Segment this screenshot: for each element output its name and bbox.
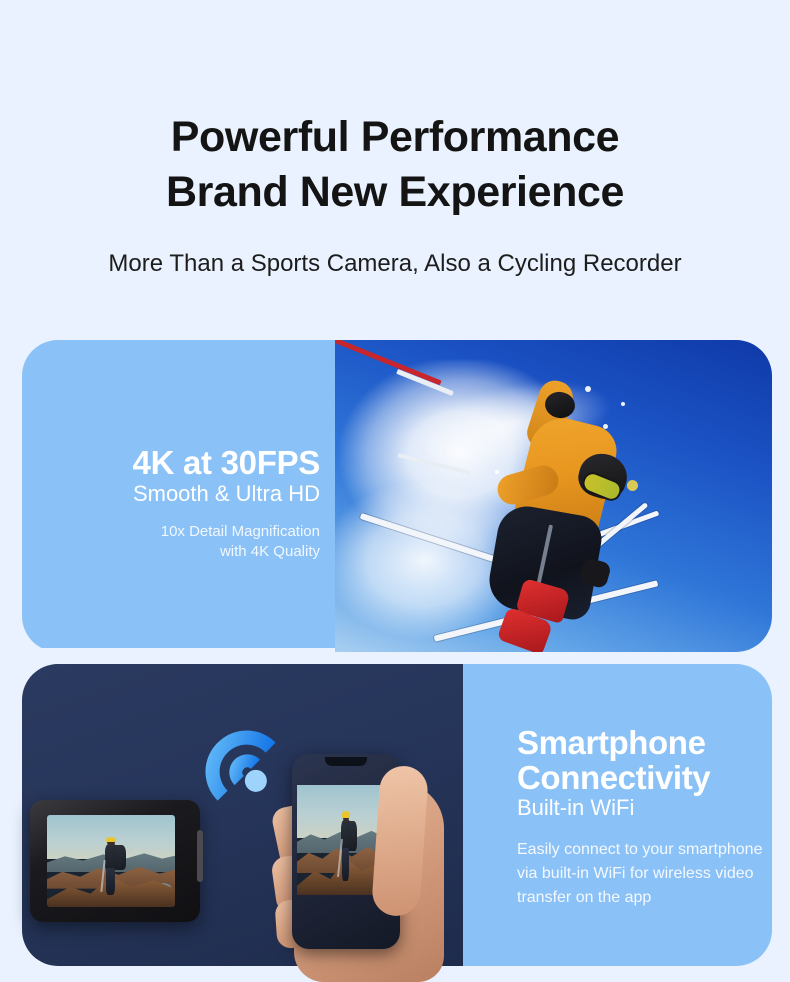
hero-title-line-2: Brand New Experience (0, 165, 790, 220)
page-title: Powerful Performance Brand New Experienc… (0, 110, 790, 220)
hiker-body (105, 844, 117, 870)
action-camera-device (30, 800, 200, 922)
video-quality-heading: 4K at 30FPS (32, 445, 320, 481)
skier-jumping-photo (335, 340, 772, 652)
connectivity-subheading: Built-in WiFi (517, 794, 772, 821)
hero-section: Powerful Performance Brand New Experienc… (0, 0, 790, 310)
connectivity-heading-line-1: Smartphone (517, 725, 772, 760)
connectivity-heading: Smartphone Connectivity (517, 725, 772, 795)
camera-side-button (197, 830, 203, 882)
video-quality-subheading: Smooth & Ultra HD (32, 480, 320, 508)
video-quality-description: 10x Detail Magnification with 4K Quality (32, 522, 320, 562)
phone-notch (325, 757, 367, 766)
video-quality-text-panel: 4K at 30FPS Smooth & Ultra HD 10x Detail… (22, 340, 335, 648)
hiker-legs (342, 848, 348, 881)
video-quality-description-line-1: 10x Detail Magnification (32, 522, 320, 542)
hiker-cap (106, 837, 117, 842)
hiker-scene (47, 815, 175, 907)
skier-figure (485, 382, 665, 632)
scene-hiker (336, 811, 358, 879)
hero-title-line-1: Powerful Performance (0, 110, 790, 165)
hiker-body (341, 820, 350, 851)
video-quality-copy: 4K at 30FPS Smooth & Ultra HD 10x Detail… (32, 445, 320, 562)
hero-subtitle: More Than a Sports Camera, Also a Cyclin… (0, 250, 790, 278)
camera-screen (47, 815, 175, 907)
connectivity-text-panel: Smartphone Connectivity Built-in WiFi Ea… (463, 664, 772, 966)
hiker-legs (106, 868, 114, 895)
connectivity-copy: Smartphone Connectivity Built-in WiFi Ea… (517, 725, 772, 910)
video-quality-description-line-2: with 4K Quality (32, 542, 320, 562)
feature-card-video-quality: 4K at 30FPS Smooth & Ultra HD 10x Detail… (22, 340, 772, 652)
hand-holding-phone (272, 748, 472, 979)
connectivity-heading-line-2: Connectivity (517, 760, 772, 795)
hiker-trekking-pole (100, 860, 105, 892)
hiker-cap (342, 811, 350, 817)
connectivity-description: Easily connect to your smartphone via bu… (517, 838, 772, 910)
scene-hiker (98, 837, 126, 894)
